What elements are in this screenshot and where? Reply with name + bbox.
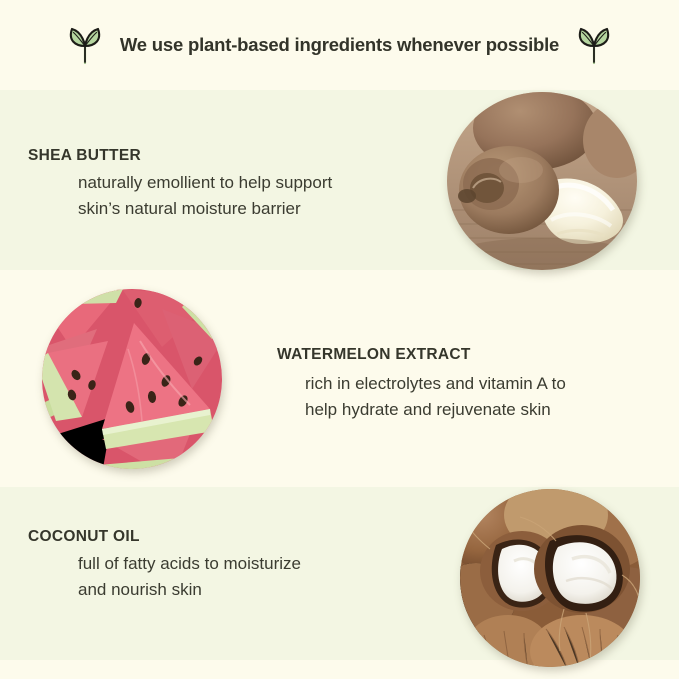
watermelon-photo [42,289,222,469]
ingredient-description-coconut-oil: full of fatty acids to moisturize and no… [78,551,301,603]
leaf-sprout-icon-left [62,22,108,68]
leaf-sprout-icon-right [571,22,617,68]
page-title: We use plant-based ingredients whenever … [120,34,559,56]
ingredient-heading-shea-butter: SHEA BUTTER [28,147,141,165]
shea-butter-photo [447,92,637,270]
header: We use plant-based ingredients whenever … [0,0,679,90]
ingredient-heading-watermelon-extract: WATERMELON EXTRACT [277,346,471,364]
ingredient-description-shea-butter: naturally emollient to help support skin… [78,170,332,222]
ingredient-heading-coconut-oil: COCONUT OIL [28,528,140,546]
ingredient-infographic: We use plant-based ingredients whenever … [0,0,679,679]
coconut-photo [460,489,640,667]
ingredient-description-watermelon-extract: rich in electrolytes and vitamin A to he… [305,371,566,423]
